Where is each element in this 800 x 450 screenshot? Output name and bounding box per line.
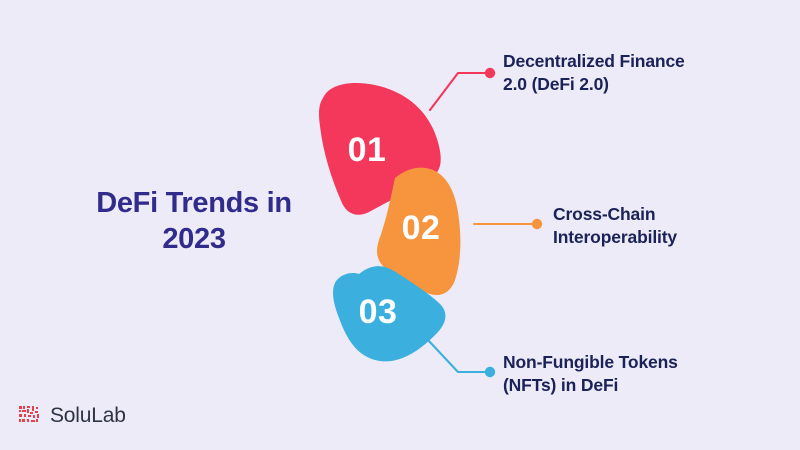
callout-01-line-1: Decentralized Finance [503,50,753,73]
segment-01-number: 01 [348,131,387,169]
page-title-line-2: 2023 [60,222,328,258]
infographic-canvas: DeFi Trends in 2023 01 02 03 [0,0,800,450]
callout-03-line-1: Non-Fungible Tokens [503,351,753,374]
connector-dot-02 [532,219,542,229]
solulab-pixel-mark-icon [18,404,41,427]
segment-02-number: 02 [402,209,441,247]
callout-02-line-2: Interoperability [553,226,783,249]
callout-label-01: Decentralized Finance 2.0 (DeFi 2.0) [503,50,753,97]
callout-01-line-2: 2.0 (DeFi 2.0) [503,73,753,96]
arc-segments-graphic: 01 02 03 [295,60,515,390]
page-title: DeFi Trends in 2023 [60,186,328,258]
callout-label-03: Non-Fungible Tokens (NFTs) in DeFi [503,351,753,398]
page-title-line-1: DeFi Trends in [60,186,328,222]
callout-03-line-2: (NFTs) in DeFi [503,374,753,397]
callout-label-02: Cross-Chain Interoperability [553,203,783,250]
brand-logo[interactable]: SoluLab [18,404,126,427]
segment-03-number: 03 [359,293,398,331]
brand-logo-text: SoluLab [50,405,126,426]
callout-02-line-1: Cross-Chain [553,203,783,226]
